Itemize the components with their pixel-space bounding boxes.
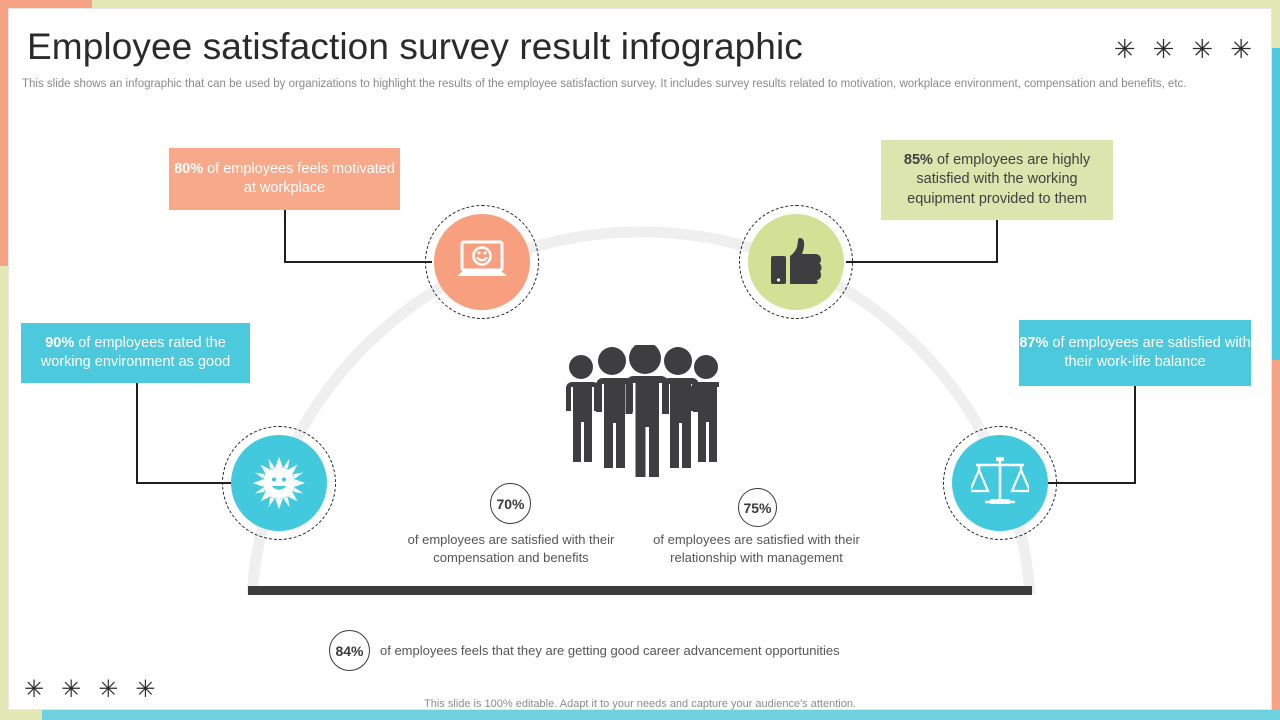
- decor-bar-left-green: [0, 266, 8, 710]
- stat-label-compensation: of employees are satisfied with their co…: [400, 531, 622, 567]
- stat-label-management: of employees are satisfied with their re…: [638, 531, 875, 567]
- slide-canvas: Employee satisfaction survey result info…: [0, 0, 1280, 720]
- callout-environment-percent: 90%: [45, 335, 74, 351]
- stat-label-career: of employees feels that they are getting…: [380, 642, 940, 660]
- star-icon: ✳: [1230, 36, 1252, 62]
- callout-equipment[interactable]: 85% of employees are highly satisfied wi…: [881, 140, 1113, 220]
- connector-environment-vertical: [136, 383, 138, 484]
- icon-circle-worklife[interactable]: [952, 435, 1048, 531]
- connector-motivation-horizontal: [284, 261, 432, 263]
- icon-circle-motivation[interactable]: [434, 214, 530, 310]
- callout-environment-text: 90% of employees rated the working envir…: [21, 334, 250, 373]
- callout-motivation-percent: 80%: [174, 161, 203, 177]
- footer-note: This slide is 100% editable. Adapt it to…: [0, 698, 1280, 710]
- callout-equipment-text: 85% of employees are highly satisfied wi…: [881, 151, 1113, 210]
- decor-bar-right-green: [1272, 0, 1280, 48]
- decor-bar-left-orange: [0, 0, 8, 266]
- star-icon: ✳: [1191, 36, 1213, 62]
- callout-worklife-percent: 87%: [1019, 335, 1048, 351]
- connector-motivation-vertical: [284, 210, 286, 262]
- stat-percent-career: 84%: [335, 643, 363, 659]
- connector-equipment-horizontal: [846, 261, 998, 263]
- balance-scales-icon: [971, 455, 1029, 511]
- stat-badge-management: 75%: [738, 488, 777, 527]
- page-subtitle: This slide shows an infographic that can…: [22, 78, 1186, 90]
- callout-environment[interactable]: 90% of employees rated the working envir…: [21, 323, 250, 383]
- callout-motivation-body: of employees feels motivated at workplac…: [203, 161, 395, 197]
- decor-bar-right-cyan: [1272, 48, 1280, 360]
- decor-bar-top-orange: [0, 0, 92, 8]
- icon-circle-environment[interactable]: [231, 435, 327, 531]
- decor-bar-bottom-green: [0, 710, 42, 720]
- laptop-smiley-icon: [454, 240, 510, 284]
- callout-equipment-percent: 85%: [904, 152, 933, 168]
- stat-percent-management: 75%: [743, 500, 771, 516]
- connector-environment-horizontal: [136, 482, 232, 484]
- icon-circle-equipment[interactable]: [748, 214, 844, 310]
- decor-bar-bottom-cyan: [42, 710, 1280, 720]
- callout-motivation[interactable]: 80% of employees feels motivated at work…: [169, 148, 400, 210]
- connector-worklife-vertical: [1134, 386, 1136, 484]
- stat-badge-compensation: 70%: [490, 483, 531, 524]
- connector-worklife-horizontal: [1046, 482, 1136, 484]
- decor-bar-top-green: [92, 0, 1280, 8]
- stat-percent-compensation: 70%: [496, 496, 524, 512]
- callout-worklife-text: 87% of employees are satisfied with thei…: [1019, 334, 1251, 373]
- star-icon: ✳: [1153, 36, 1175, 62]
- callout-motivation-text: 80% of employees feels motivated at work…: [169, 160, 400, 199]
- connector-equipment-vertical: [996, 220, 998, 263]
- sun-smiley-icon: [251, 455, 307, 511]
- callout-equipment-body: of employees are highly satisfied with t…: [907, 152, 1090, 207]
- callout-worklife-body: of employees are satisfied with their wo…: [1048, 335, 1250, 371]
- stat-badge-career: 84%: [329, 630, 370, 671]
- callout-worklife[interactable]: 87% of employees are satisfied with thei…: [1019, 320, 1251, 386]
- thumbs-up-icon: [768, 235, 824, 289]
- title-star-decoration: ✳ ✳ ✳ ✳: [1114, 36, 1252, 62]
- baseline-bar: [248, 586, 1032, 595]
- star-icon: ✳: [1114, 36, 1136, 62]
- page-title: Employee satisfaction survey result info…: [27, 26, 803, 68]
- decor-bar-right-orange: [1272, 360, 1280, 710]
- people-group-icon: [561, 345, 719, 477]
